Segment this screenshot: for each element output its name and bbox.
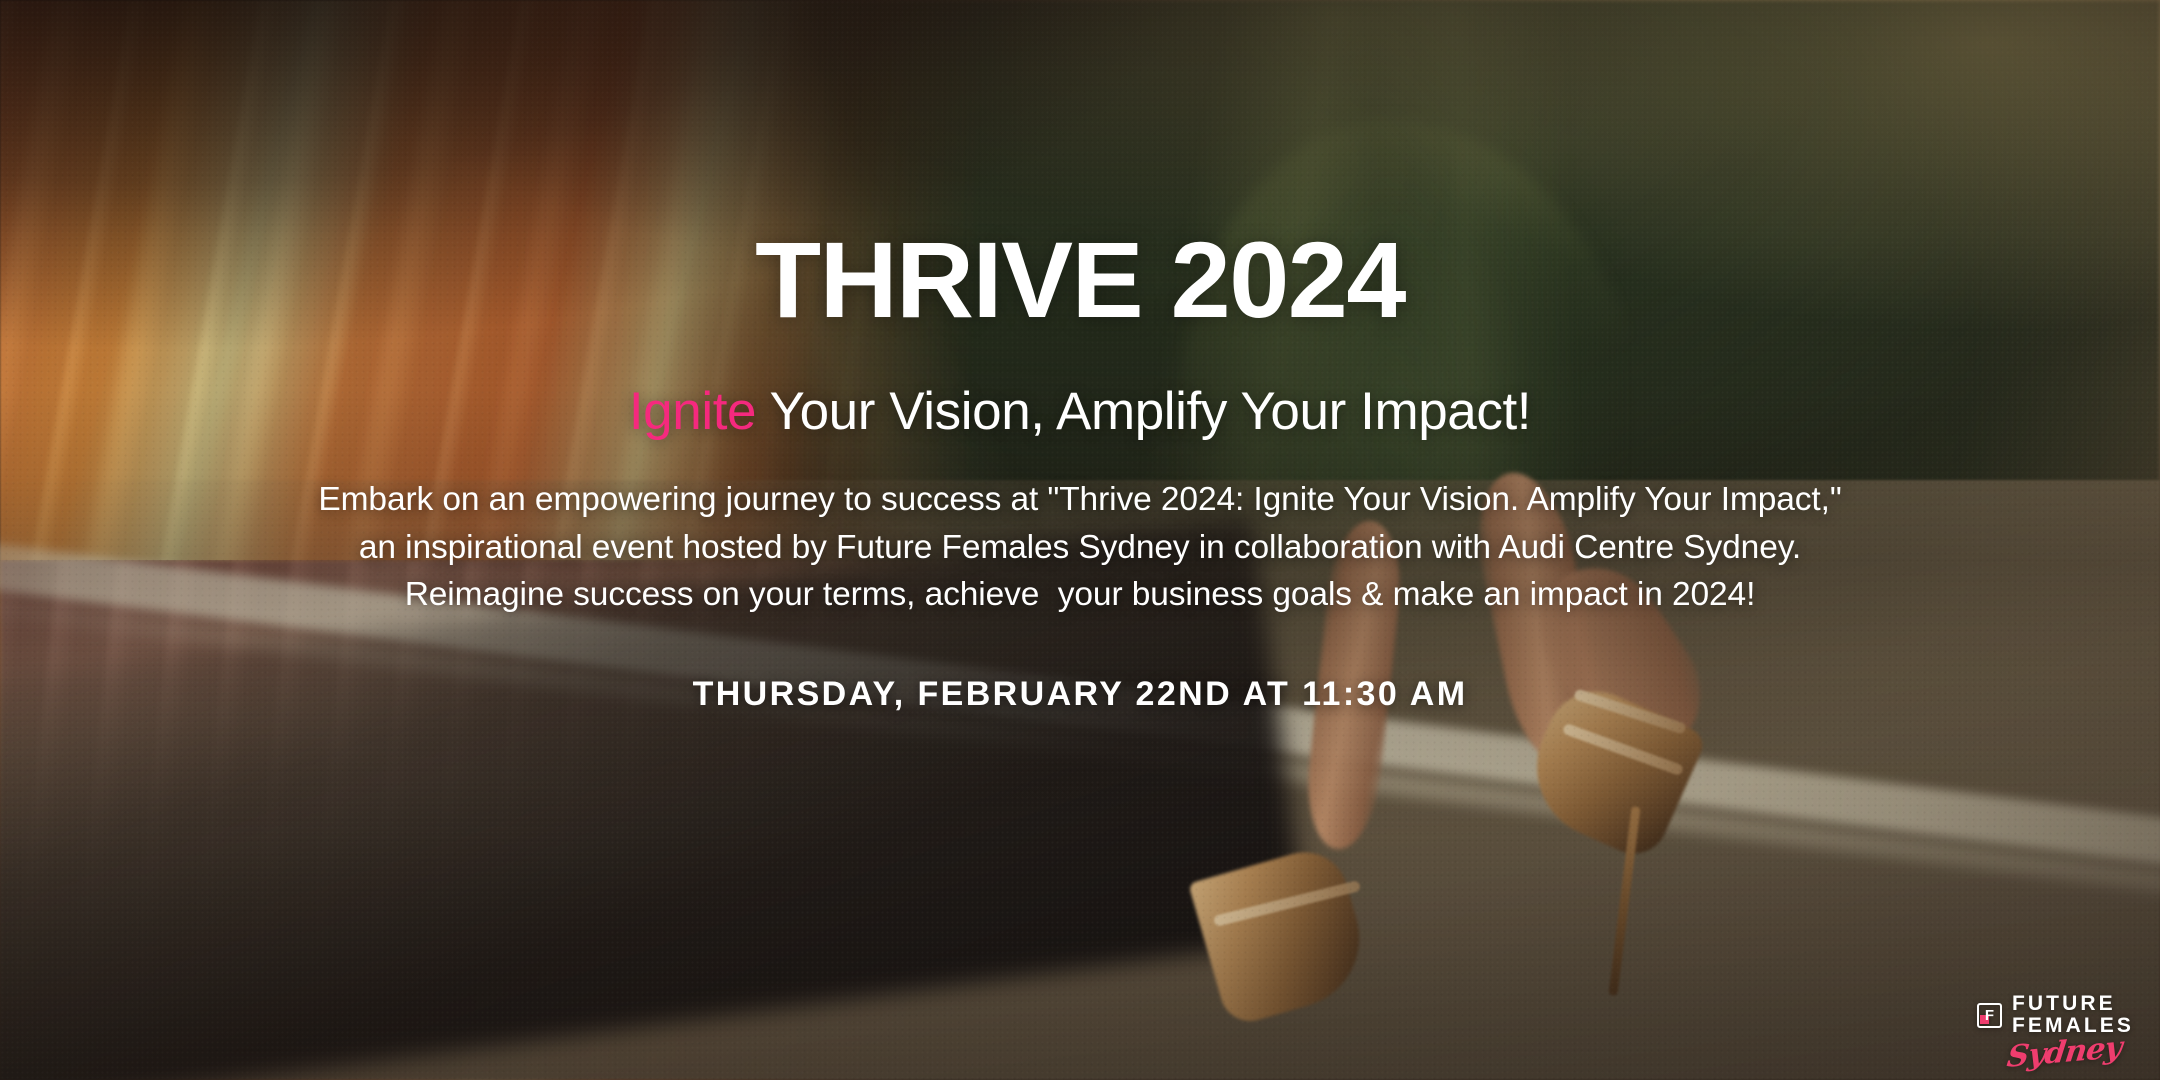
event-tagline-accent: Ignite: [629, 382, 756, 441]
event-description-line: an inspirational event hosted by Future …: [318, 524, 1841, 572]
future-females-monogram-icon: F: [1977, 1003, 2002, 1028]
event-datetime: THURSDAY, FEBRUARY 22ND AT 11:30 AM: [693, 675, 1468, 714]
event-description: Embark on an empowering journey to succe…: [318, 476, 1841, 620]
banner-content: THRIVE 2024 Ignite Your Vision, Amplify …: [0, 0, 2160, 1080]
logo-word-future: FUTURE: [2012, 993, 2134, 1015]
event-banner: THRIVE 2024 Ignite Your Vision, Amplify …: [0, 0, 2160, 1080]
event-description-line: Embark on an empowering journey to succe…: [318, 476, 1841, 524]
event-description-line: Reimagine success on your terms, achieve…: [318, 571, 1841, 619]
event-tagline-rest: Your Vision, Amplify Your Impact!: [756, 382, 1531, 441]
event-title: THRIVE 2024: [755, 226, 1405, 334]
event-tagline: Ignite Your Vision, Amplify Your Impact!: [629, 384, 1531, 440]
monogram-letter: F: [1985, 1008, 1994, 1023]
future-females-sydney-logo: F FUTURE FEMALES Sydney: [1977, 993, 2134, 1070]
